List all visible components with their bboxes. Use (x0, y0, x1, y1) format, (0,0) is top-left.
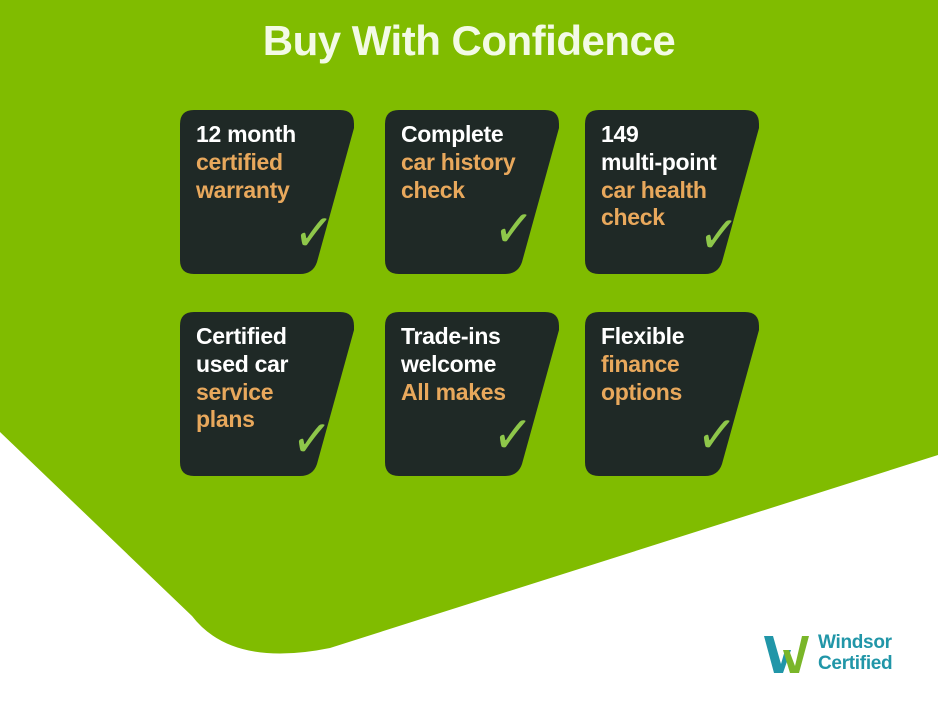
benefit-card-text: Complete car history check (401, 121, 549, 204)
benefit-card-text: Trade-ins welcome All makes (401, 323, 549, 406)
benefit-line: options (601, 379, 749, 407)
benefit-line: certified (196, 149, 344, 177)
benefit-line: Complete (401, 121, 549, 149)
benefit-line: All makes (401, 379, 549, 407)
benefit-line: car history (401, 149, 549, 177)
windsor-w-mark-icon (762, 632, 810, 676)
benefit-line: welcome (401, 351, 549, 379)
benefit-line: 149 (601, 121, 749, 149)
benefit-card-text: Flexible finance options (601, 323, 749, 406)
benefit-line: used car (196, 351, 344, 379)
brand-logo: Windsor Certified (762, 626, 922, 682)
benefit-line: service (196, 379, 344, 407)
benefit-line: 12 month (196, 121, 344, 149)
benefit-line: multi-point (601, 149, 749, 177)
brand-logo-line2: Certified (818, 654, 892, 675)
brand-logo-line1: Windsor (818, 633, 892, 654)
benefit-line: Flexible (601, 323, 749, 351)
brand-promo-banner: Buy With Confidence 12 month certified w… (0, 0, 938, 704)
page-title: Buy With Confidence (0, 18, 938, 64)
benefit-line: finance (601, 351, 749, 379)
brand-logo-text: Windsor Certified (818, 633, 892, 674)
benefit-card-text: 12 month certified warranty (196, 121, 344, 204)
benefit-line: Certified (196, 323, 344, 351)
benefit-line: warranty (196, 177, 344, 205)
benefit-line: car health (601, 177, 749, 205)
benefit-line: Trade-ins (401, 323, 549, 351)
